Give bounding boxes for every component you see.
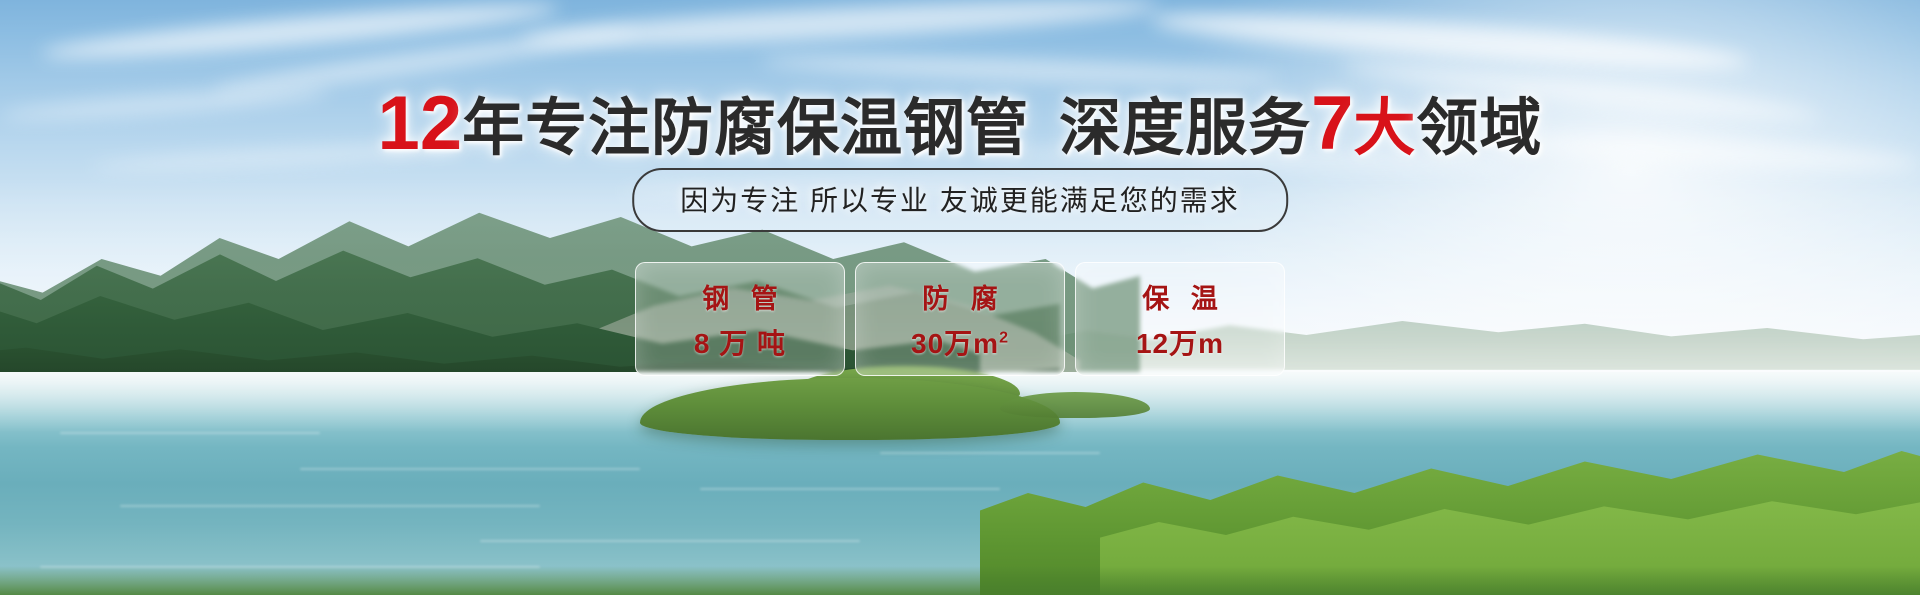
stat-value-text: 12万m — [1136, 328, 1224, 359]
banner-headline: 12年专注防腐保温钢管深度服务7大领域 — [0, 84, 1920, 164]
headline-part-3: 领域 — [1416, 94, 1542, 163]
headline-accent-char: 大 — [1353, 94, 1416, 163]
stat-card-steel-pipe[interactable]: 钢 管 8 万 吨 — [635, 262, 845, 376]
stat-value: 12万m — [1136, 322, 1224, 362]
stat-label: 防 腐 — [915, 277, 1005, 316]
stat-card-group: 钢 管 8 万 吨 防 腐 30万m2 保 温 12万m — [635, 262, 1285, 376]
stat-value: 30万m2 — [911, 322, 1009, 362]
stat-label: 钢 管 — [695, 277, 785, 316]
headline-part-2: 深度服务 — [1059, 94, 1311, 163]
stat-value-text: 8 万 吨 — [694, 328, 786, 359]
headline-part-1: 年专注防腐保温钢管 — [462, 94, 1029, 163]
stat-value-text: 30万m — [911, 328, 999, 359]
promo-banner: 12年专注防腐保温钢管深度服务7大领域 因为专注 所以专业 友诚更能满足您的需求… — [0, 0, 1920, 595]
stat-label: 保 温 — [1135, 277, 1225, 316]
banner-subtitle-pill: 因为专注 所以专业 友诚更能满足您的需求 — [632, 168, 1288, 232]
headline-fields-number: 7 — [1311, 81, 1353, 166]
stat-card-insulation[interactable]: 保 温 12万m — [1075, 262, 1285, 376]
island-tail — [1000, 392, 1150, 418]
subtitle-text: 因为专注 所以专业 友诚更能满足您的需求 — [680, 185, 1240, 216]
stat-value-exponent: 2 — [999, 329, 1009, 346]
headline-years-number: 12 — [378, 81, 463, 166]
stat-value: 8 万 吨 — [694, 322, 786, 362]
stat-card-anticorrosion[interactable]: 防 腐 30万m2 — [855, 262, 1065, 376]
